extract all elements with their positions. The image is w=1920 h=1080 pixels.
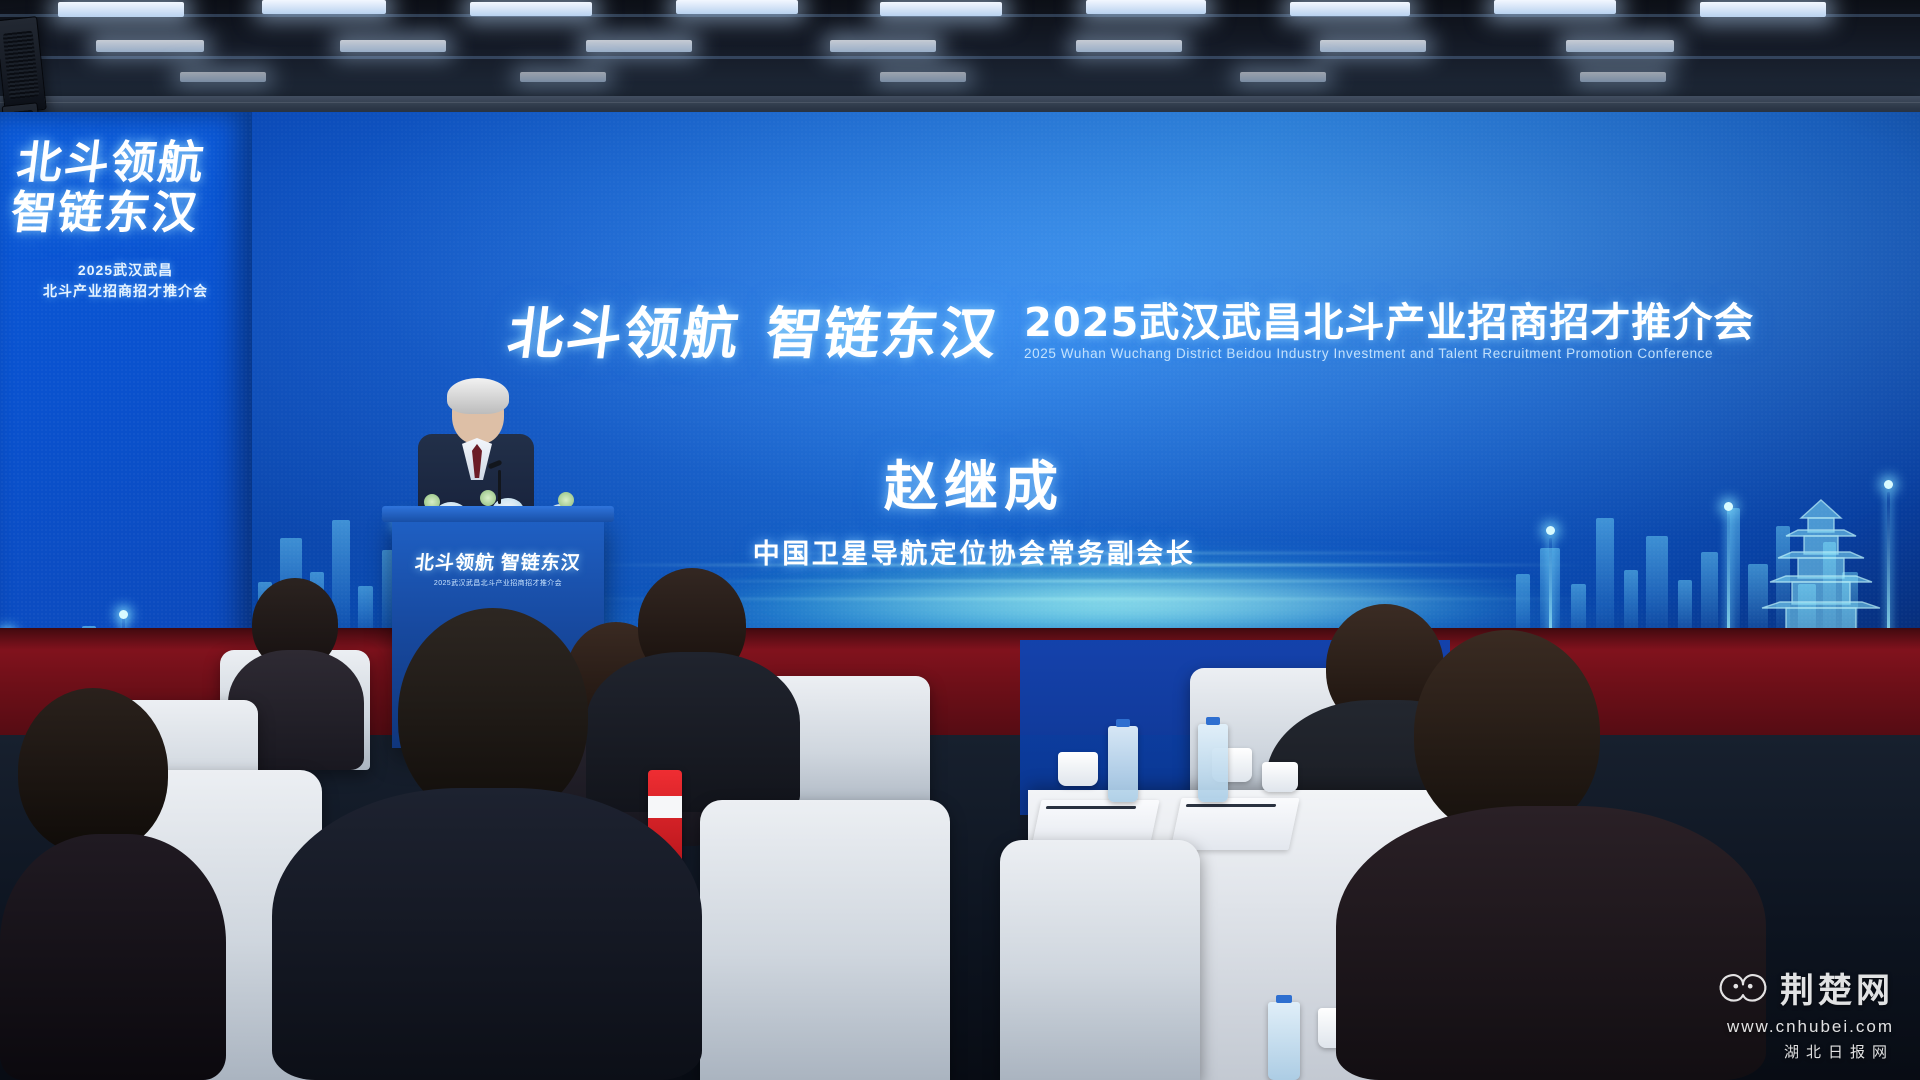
podium: 北斗领航 智链东汉 2025武汉武昌北斗产业招商招才推介会 中国 · 武汉 — [392, 518, 604, 748]
conference-title-en: 2025 Wuhan Wuchang District Beidou Indus… — [1024, 346, 1754, 361]
calligraphy-left: 北斗领航 — [505, 307, 744, 363]
ceiling-light — [340, 40, 446, 52]
auditorium-floor — [0, 735, 1920, 1080]
ceiling-light — [520, 72, 606, 82]
ceiling-light — [96, 40, 204, 52]
watermark-site-name: 荆楚网 — [1780, 963, 1894, 1012]
calligraphy-right: 智链东汉 — [763, 307, 1002, 363]
ceiling-light — [1494, 0, 1616, 14]
ceiling-light — [1700, 2, 1826, 17]
ceiling-light — [1290, 2, 1410, 16]
watermark-url: www.cnhubei.com — [1716, 1017, 1894, 1037]
led-main-title: 北斗领航 智链东汉 2025武汉武昌北斗产业招商招才推介会 2025 Wuhan… — [508, 302, 1754, 363]
ceiling-light — [1566, 40, 1674, 52]
ceiling-light — [880, 72, 966, 82]
speaker-hair — [447, 378, 509, 414]
ceiling-light — [180, 72, 266, 82]
ceiling-light — [830, 40, 936, 52]
cnhubei-logo-icon — [1716, 968, 1770, 1008]
watermark-publisher: 湖北日报网 — [1716, 1041, 1894, 1062]
ceiling-light — [262, 0, 386, 14]
beverage-can — [648, 770, 682, 866]
speaker-name: 赵继成 — [28, 442, 1920, 521]
side-banner-sub2: 北斗产业招商招才推介会 — [18, 281, 233, 302]
side-banner-calligraphy: 北斗领航 智链东汉 — [8, 138, 245, 239]
ceiling-light — [676, 0, 798, 14]
ceiling-light — [58, 2, 184, 17]
podium-logo: 北斗领航 智链东汉 — [407, 548, 590, 575]
conference-title-cn: 2025武汉武昌北斗产业招商招才推介会 — [1024, 302, 1754, 344]
conference-stage-photo: 北斗领航 智链东汉 2025武汉武昌北斗产业招商招才推介会 2025 Wuhan… — [0, 0, 1920, 1080]
side-banner-line2: 智链东汉 — [8, 188, 239, 238]
ceiling-light — [1320, 40, 1426, 52]
side-banner-subtitle: 2025武汉武昌 北斗产业招商招才推介会 — [18, 260, 233, 302]
ceiling-light — [1076, 40, 1182, 52]
ceiling-light — [1240, 72, 1326, 82]
podium-footer: 中国 · 武汉 — [408, 644, 588, 654]
ceiling-light — [586, 40, 692, 52]
ceiling-light — [470, 2, 592, 16]
side-banner-sub1: 2025武汉武昌 — [18, 260, 233, 281]
ceiling-light — [1580, 72, 1666, 82]
ceiling-light — [1086, 0, 1206, 14]
led-screen: 北斗领航 智链东汉 2025武汉武昌北斗产业招商招才推介会 2025 Wuhan… — [28, 112, 1920, 642]
ceiling-light — [880, 2, 1002, 16]
podium-subtitle: 2025武汉武昌北斗产业招商招才推介会 — [408, 578, 588, 588]
pagoda-silhouette — [1746, 492, 1896, 642]
side-banner-line1: 北斗领航 — [14, 138, 245, 188]
speaker-role: 中国卫星导航定位协会常务副会长 — [28, 532, 1920, 571]
watermark: 荆楚网 www.cnhubei.com 湖北日报网 — [1716, 963, 1894, 1062]
